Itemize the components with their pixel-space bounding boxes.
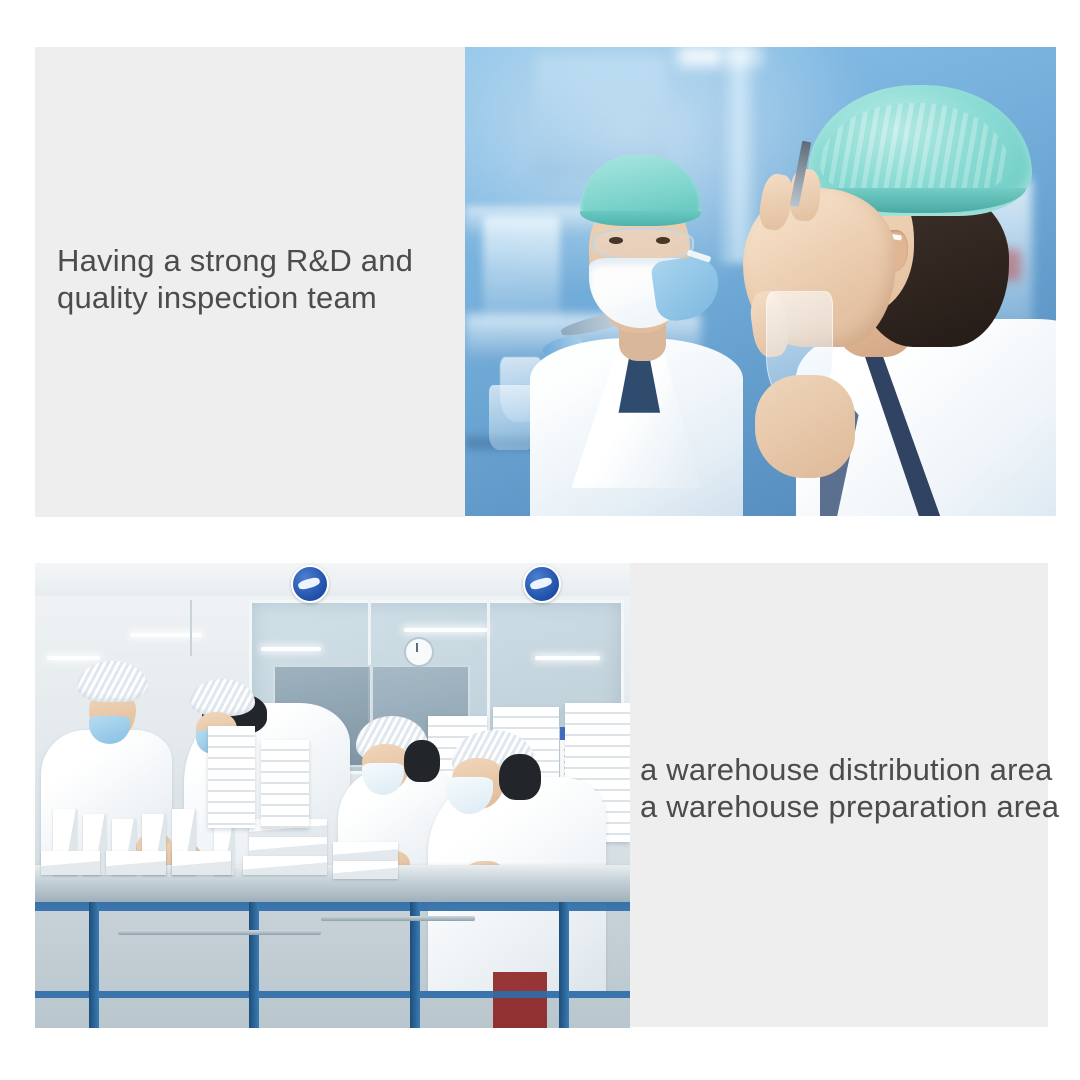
packer-2-hairnet [190, 679, 255, 716]
table-leg-2 [249, 902, 259, 1028]
cleanroom-sign-icon-left [291, 565, 329, 603]
page-root: Having a strong R&D and quality inspecti… [0, 0, 1080, 1080]
ceiling-tube-light-1 [47, 656, 101, 660]
carton-flat-4 [333, 842, 398, 861]
carton-flat-3 [243, 856, 326, 875]
carton-front-2 [106, 851, 166, 874]
ceiling-tube-light-4 [404, 628, 487, 632]
table-rail-upper [35, 902, 630, 911]
table-leg-1 [89, 902, 99, 1028]
carton-flat-2 [249, 837, 326, 856]
table-crossbar-2 [321, 916, 476, 921]
warehouse-caption-line-2: a warehouse preparation area [640, 788, 1059, 825]
warehouse-packing-photo [35, 563, 630, 1028]
rd-quality-inspection-photo [465, 47, 1056, 516]
carton-front-1 [41, 851, 101, 874]
worker-b-lower-hand [755, 375, 855, 478]
rd-caption: Having a strong R&D and quality inspecti… [57, 242, 413, 316]
table-leg-3 [410, 902, 420, 1028]
rd-caption-line-1: Having a strong R&D and [57, 242, 413, 279]
worker-a-safety-glasses [592, 228, 694, 260]
table-rail-lower [35, 991, 630, 998]
carton-stack-center-2 [261, 740, 309, 828]
warehouse-caption-line-1: a warehouse distribution area [640, 751, 1059, 788]
lab-background-equipment [483, 216, 560, 329]
cleanroom-sign-icon-right [523, 565, 561, 603]
packer-4-hair [499, 754, 541, 801]
ceiling-tube-light-3 [261, 647, 321, 651]
rd-caption-line-2: quality inspection team [57, 279, 413, 316]
carton-stack-center [208, 726, 256, 828]
carton-front-3 [172, 851, 232, 874]
warehouse-caption: a warehouse distribution area a warehous… [640, 751, 1059, 825]
packer-3-hair [404, 740, 440, 782]
ceiling-hose [190, 600, 192, 656]
carton-flat-5 [333, 861, 398, 880]
table-leg-4 [559, 902, 569, 1028]
table-crossbar-1 [118, 930, 320, 935]
worker-a-mask-blue-fold [650, 254, 723, 323]
ceiling-tube-light-5 [535, 656, 600, 660]
